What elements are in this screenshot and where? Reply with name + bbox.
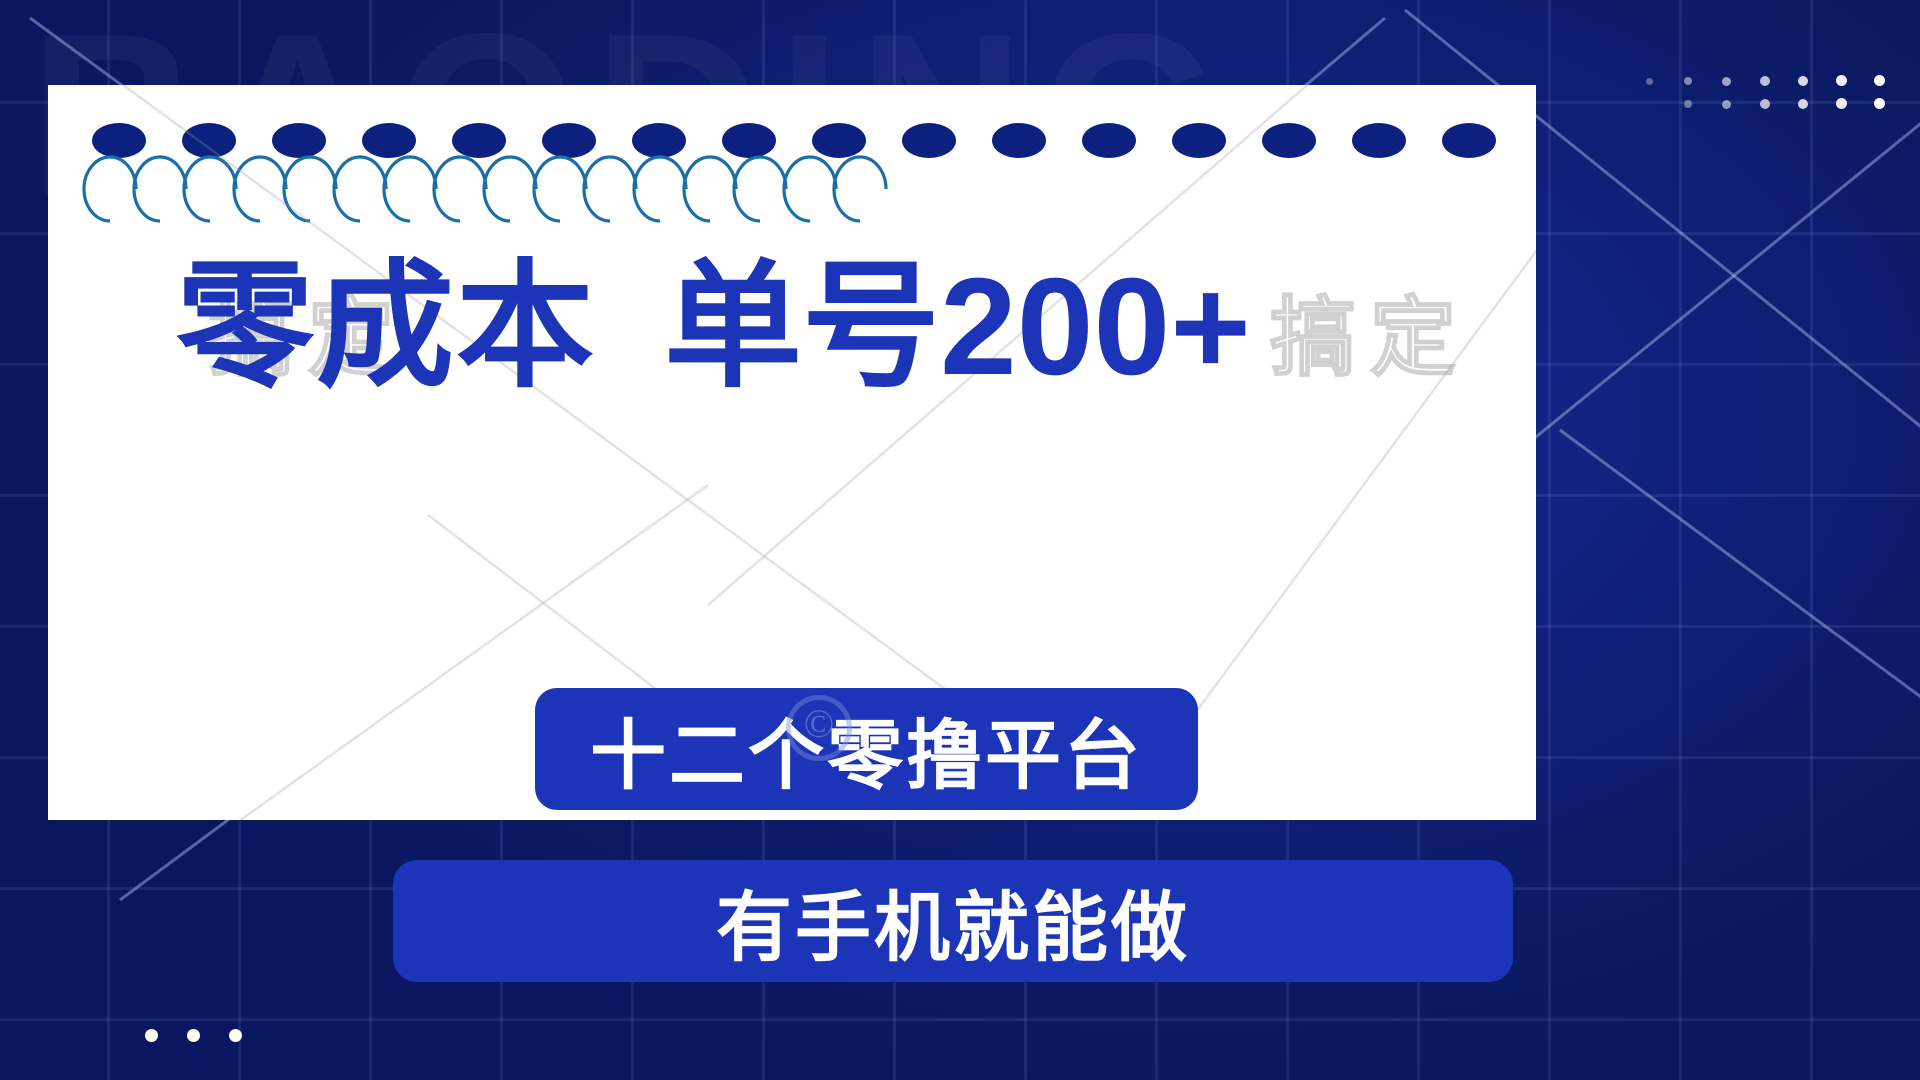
- card-watermark-right: 搞定: [1270, 267, 1470, 392]
- spiral-binding-rings: [48, 137, 1536, 227]
- copyright-icon: ©: [786, 695, 852, 761]
- poster-stage: BAODING: [0, 0, 1920, 1080]
- notepad-card: 搞定 搞定 零成本 单号200+ 十二个零撸平台 有手机就能做 ©: [48, 85, 1536, 820]
- feature-pill-platforms[interactable]: 十二个零撸平台: [535, 688, 1198, 810]
- headline-part-2: 单号200+: [664, 253, 1251, 402]
- dot: [187, 1029, 200, 1042]
- bottom-dot-row: [145, 1029, 242, 1042]
- headline-part-1: 零成本: [176, 253, 596, 402]
- headline: 零成本 单号200+: [176, 253, 1251, 402]
- dot: [145, 1029, 158, 1042]
- background-dot-cluster: [1646, 72, 1886, 116]
- feature-pill-phone[interactable]: 有手机就能做: [393, 860, 1513, 982]
- dot: [229, 1029, 242, 1042]
- binding-holes: [48, 123, 1536, 163]
